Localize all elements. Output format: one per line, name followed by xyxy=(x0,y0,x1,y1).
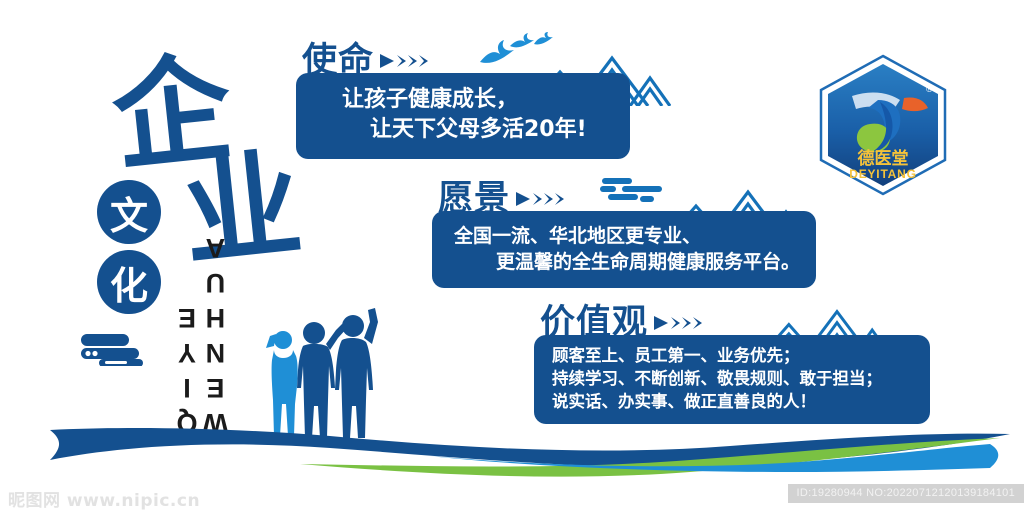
mission-line-2: 让天下父母多活20年! xyxy=(318,115,608,145)
values-line-1: 顾客至上、员工第一、业务优先； xyxy=(552,345,912,368)
vision-line-2: 更温馨的全生命周期健康服务平台。 xyxy=(454,249,794,275)
vision-card: 全国一流、华北地区更专业、 更温馨的全生命周期健康服务平台。 xyxy=(432,211,816,288)
values-card: 顾客至上、员工第一、业务优先； 持续学习、不断创新、敬畏规则、敢于担当； 说实话… xyxy=(534,335,930,424)
section-vision: 愿景 全国一流、华北地区更专业、 更温馨的全生命周期健康服务平台。 xyxy=(432,182,816,288)
image-id-badge: ID:19280944 NO:20220712120139184101 xyxy=(788,484,1024,503)
values-line-2: 持续学习、不断创新、敬畏规则、敢于担当； xyxy=(552,368,912,391)
vision-line-1: 全国一流、华北地区更专业、 xyxy=(454,223,794,249)
values-line-3: 说实话、办实事、做正直善良的人！ xyxy=(552,391,912,414)
cloud-decoration-icon xyxy=(65,326,155,371)
mission-card: 让孩子健康成长， 让天下父母多活20年! xyxy=(296,73,630,159)
title-circle-hua: 化 xyxy=(97,250,161,314)
company-logo[interactable]: ® 德医堂 DEYITANG xyxy=(812,52,954,198)
site-watermark: 昵图网 www.nipic.cn xyxy=(8,486,200,511)
poster-canvas: 企 业 文 化 QIYE WENHUA xyxy=(0,0,1024,512)
chevron-arrows-icon xyxy=(380,52,434,75)
footer-bar: 昵图网 www.nipic.cn ID:19280944 NO:20220712… xyxy=(0,484,1024,512)
section-values: 价值观 顾客至上、员工第一、业务优先； 持续学习、不断创新、敬畏规则、敢于担当；… xyxy=(534,306,930,424)
logo-name-cn: 德医堂 xyxy=(858,148,909,169)
section-mission: 使命 让孩子健康成长， 让天下父母多活20年! xyxy=(296,44,630,159)
title-pinyin: QIYE WENHUA xyxy=(173,220,230,438)
logo-name-en: DEYITANG xyxy=(849,167,917,181)
mission-line-1: 让孩子健康成长， xyxy=(318,85,608,115)
chevron-arrows-icon xyxy=(516,190,570,213)
svg-text:®: ® xyxy=(926,84,933,94)
title-circle-wen: 文 xyxy=(97,180,161,244)
chevron-arrows-icon xyxy=(654,314,708,337)
cloud-icon xyxy=(600,176,662,215)
